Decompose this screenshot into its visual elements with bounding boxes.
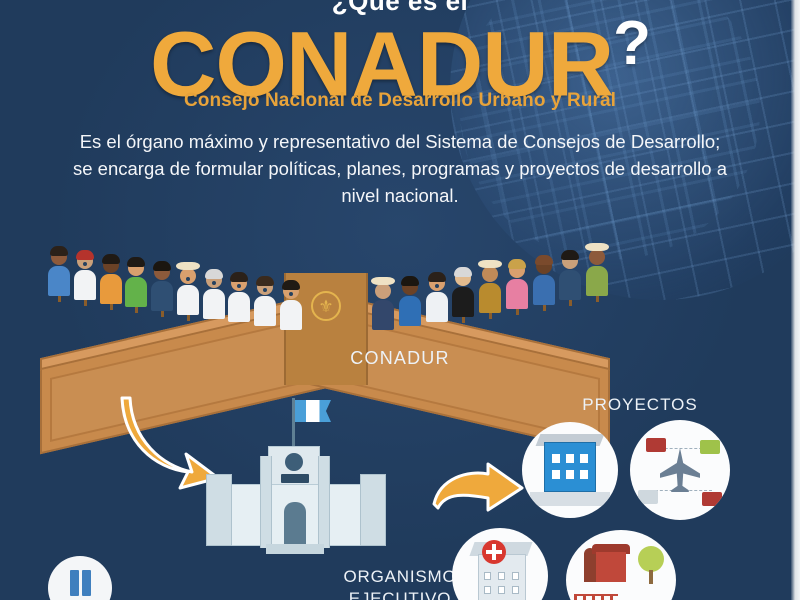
member-head: [154, 264, 170, 280]
building-crest-icon: [285, 453, 303, 471]
council-member: [533, 258, 555, 305]
council-member: [280, 283, 302, 330]
member-head: [509, 262, 525, 278]
proyectos-label: PROYECTOS: [540, 395, 740, 415]
member-head: [455, 270, 471, 286]
council-member: [74, 253, 96, 300]
member-hair: [153, 261, 171, 271]
proyecto-hospital-icon: [452, 528, 548, 600]
member-badge: [186, 277, 190, 281]
council-member: [559, 253, 581, 300]
member-hair: [478, 260, 502, 268]
organismo-ejecutivo-label-line2: EJECUTIVO: [0, 588, 800, 600]
proyecto-agricultura-icon: [566, 530, 676, 600]
member-body: [228, 292, 250, 322]
member-head: [206, 272, 222, 288]
council-member: [254, 279, 276, 326]
council-member: [506, 262, 528, 309]
council-member: [586, 249, 608, 296]
member-badge: [435, 284, 439, 288]
council-member: [452, 270, 474, 317]
council-member: [372, 283, 394, 330]
member-hair: [508, 259, 526, 269]
bus-icon: [646, 438, 666, 452]
proyecto-infraestructura-transporte-icon: [630, 420, 730, 520]
building-door: [284, 502, 306, 546]
organismo-ejecutivo-icon: [196, 398, 396, 558]
member-hair: [127, 257, 145, 267]
member-body: [74, 270, 96, 300]
barn-icon: [596, 552, 626, 582]
member-hair: [428, 272, 446, 282]
member-body: [533, 275, 555, 305]
member-hair: [76, 250, 94, 260]
council-member: [177, 268, 199, 315]
member-body: [559, 270, 581, 300]
member-body: [254, 296, 276, 326]
member-hair: [256, 276, 274, 286]
guatemala-emblem-icon: ⚜: [311, 291, 341, 321]
member-hair: [401, 276, 419, 286]
organismo-ejecutivo-label-line1: ORGANISMO: [0, 566, 800, 588]
member-hair: [371, 277, 395, 285]
airplane-icon: [660, 448, 700, 492]
conadur-label: CONADUR: [0, 348, 800, 369]
member-head: [103, 257, 119, 273]
member-head: [589, 249, 605, 265]
infographic-poster: ¿Qué es el CONADUR? Consejo Nacional de …: [0, 0, 800, 600]
arrow-ejecutivo-to-proyectos-icon: [430, 462, 526, 518]
building-column-right: [318, 456, 330, 548]
member-body: [586, 266, 608, 296]
right-edge-border: [791, 0, 800, 600]
question-mark: ?: [613, 9, 650, 78]
member-body: [426, 292, 448, 322]
member-head: [257, 279, 273, 295]
member-head: [283, 283, 299, 299]
member-hair: [176, 262, 200, 270]
guatemala-flag-icon: [292, 398, 295, 450]
member-body: [151, 281, 173, 311]
member-body: [203, 289, 225, 319]
organismo-ejecutivo-label: ORGANISMO EJECUTIVO: [0, 566, 800, 600]
council-member: [399, 279, 421, 326]
member-hair: [535, 255, 553, 265]
member-body: [280, 300, 302, 330]
council-member: [125, 260, 147, 307]
member-badge: [289, 292, 293, 296]
member-body: [452, 287, 474, 317]
member-body: [48, 266, 70, 296]
building-steps: [266, 544, 324, 554]
member-head: [562, 253, 578, 269]
member-head: [482, 266, 498, 282]
council-member: [479, 266, 501, 313]
member-body: [372, 300, 394, 330]
red-cross-icon: [482, 540, 506, 564]
poster-description: Es el órgano máximo y representativo del…: [72, 128, 728, 209]
council-member: [100, 257, 122, 304]
council-member: [48, 249, 70, 296]
proyecto-edificio-municipal-icon: [522, 422, 618, 518]
member-hair: [454, 267, 472, 277]
station-icon: [638, 490, 658, 504]
member-badge: [212, 281, 216, 285]
member-hair: [561, 250, 579, 260]
ship-icon: [702, 492, 722, 506]
member-hair: [50, 246, 68, 256]
council-member: [151, 264, 173, 311]
tower-icon: [700, 440, 720, 454]
council-member: [228, 275, 250, 322]
member-hair: [282, 280, 300, 290]
fence-icon: [574, 594, 618, 600]
member-badge: [83, 262, 87, 266]
member-hair: [102, 254, 120, 264]
member-body: [506, 279, 528, 309]
member-hair: [230, 272, 248, 282]
building-column-left: [260, 456, 272, 548]
gobierno-logo: GOBIERNO: [48, 556, 112, 600]
building-wing-right: [360, 474, 386, 546]
poster-subtitle: Consejo Nacional de Desarrollo Urbano y …: [0, 90, 800, 112]
member-head: [128, 260, 144, 276]
tree-icon: [638, 546, 664, 572]
member-body: [100, 274, 122, 304]
member-head: [375, 283, 391, 299]
council-member: [203, 272, 225, 319]
member-body: [125, 277, 147, 307]
member-head: [536, 258, 552, 274]
member-head: [402, 279, 418, 295]
member-body: [177, 285, 199, 315]
member-body: [399, 296, 421, 326]
council-member: [426, 275, 448, 322]
member-head: [77, 253, 93, 269]
member-head: [51, 249, 67, 265]
member-head: [180, 268, 196, 284]
member-body: [479, 283, 501, 313]
member-hair: [585, 243, 609, 251]
building-wing-left: [206, 474, 232, 546]
member-head: [429, 275, 445, 291]
member-hair: [205, 269, 223, 279]
building-plaque: [281, 474, 309, 483]
member-head: [231, 275, 247, 291]
